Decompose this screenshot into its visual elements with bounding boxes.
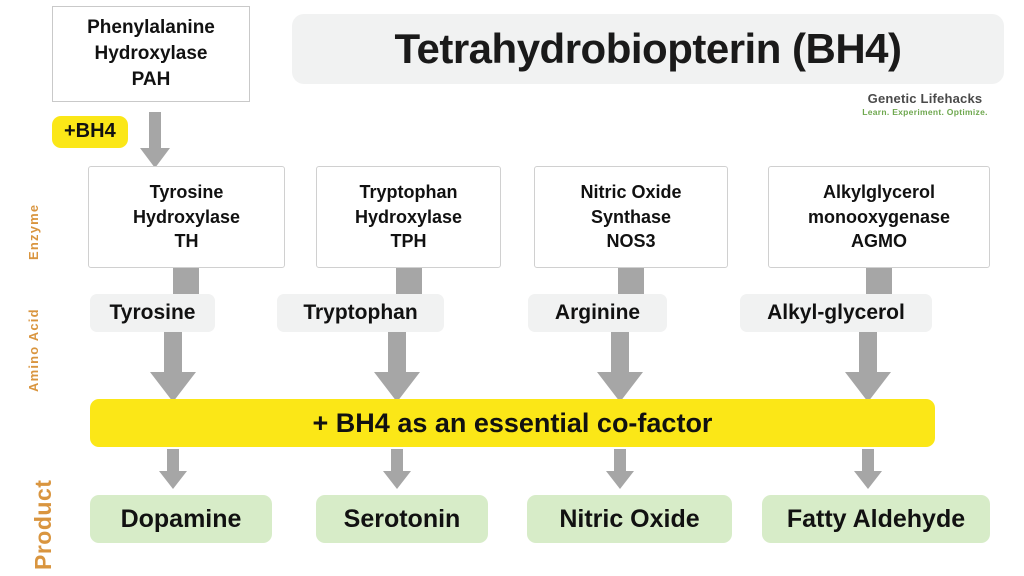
cofactor-label: + BH4 as an essential co-factor [313,408,713,439]
amino-pill-tyrosine-label: Tyrosine [110,301,196,325]
brand-tagline: Learn. Experiment. Optimize. [840,108,1010,118]
enzyme-nos3-line-3: NOS3 [606,229,655,253]
product-pill-serotonin: Serotonin [316,495,488,543]
row-label-product: Product [30,480,57,570]
cofactor-banner: + BH4 as an essential co-factor [90,399,935,447]
bh4-badge: +BH4 [52,116,128,148]
enzyme-tph-line-2: Hydroxylase [355,205,462,229]
connector-nos3-to-arginine [618,268,644,296]
row-label-enzyme: Enzyme [26,204,41,260]
product-pill-dopamine: Dopamine [90,495,272,543]
enzyme-nos3-line-1: Nitric Oxide [580,180,681,204]
product-pill-fatty-aldehyde: Fatty Aldehyde [762,495,990,543]
arrow-tryptophan-to-cofactor [374,332,420,402]
enzyme-agmo-line-3: AGMO [851,229,907,253]
arrow-cofactor-to-fatty-aldehyde [854,449,882,489]
connector-th-to-tyrosine [173,268,199,296]
product-pill-nitric-oxide-label: Nitric Oxide [559,505,699,534]
brand-logo: Genetic Lifehacks Learn. Experiment. Opt… [840,92,1010,118]
enzyme-agmo-line-2: monooxygenase [808,205,950,229]
amino-pill-alkyl-glycerol-label: Alkyl-glycerol [767,301,905,325]
amino-pill-tryptophan-label: Tryptophan [303,301,417,325]
arrow-cofactor-to-serotonin [383,449,411,489]
connector-agmo-to-alkylglycerol [866,268,892,296]
enzyme-nos3-line-2: Synthase [591,205,671,229]
arrow-bh4-to-tyrosine-hydroxylase [140,112,170,168]
product-pill-fatty-aldehyde-label: Fatty Aldehyde [787,505,965,534]
enzyme-box-agmo: Alkylglycerol monooxygenase AGMO [768,166,990,268]
enzyme-th-line-2: Hydroxylase [133,205,240,229]
amino-pill-tyrosine: Tyrosine [90,294,215,332]
amino-pill-arginine: Arginine [528,294,667,332]
arrow-cofactor-to-dopamine [159,449,187,489]
pah-line-1: Phenylalanine [87,15,215,41]
enzyme-box-th: Tyrosine Hydroxylase TH [88,166,285,268]
connector-tph-to-tryptophan [396,268,422,296]
enzyme-tph-line-1: Tryptophan [360,180,458,204]
enzyme-agmo-line-1: Alkylglycerol [823,180,935,204]
pah-line-3: PAH [132,67,171,93]
product-pill-serotonin-label: Serotonin [344,505,461,534]
arrow-tyrosine-to-cofactor [150,332,196,402]
arrow-alkylglycerol-to-cofactor [845,332,891,402]
product-pill-nitric-oxide: Nitric Oxide [527,495,732,543]
enzyme-tph-line-3: TPH [391,229,427,253]
amino-pill-arginine-label: Arginine [555,301,640,325]
product-pill-dopamine-label: Dopamine [121,505,242,534]
enzyme-th-line-1: Tyrosine [150,180,224,204]
arrow-cofactor-to-nitric-oxide [606,449,634,489]
amino-pill-tryptophan: Tryptophan [277,294,444,332]
row-label-amino-acid: Amino Acid [26,308,41,392]
enzyme-box-nos3: Nitric Oxide Synthase NOS3 [534,166,728,268]
amino-pill-alkyl-glycerol: Alkyl-glycerol [740,294,932,332]
pah-line-2: Hydroxylase [94,41,207,67]
enzyme-th-line-3: TH [175,229,199,253]
enzyme-box-pah: Phenylalanine Hydroxylase PAH [52,6,250,102]
enzyme-box-tph: Tryptophan Hydroxylase TPH [316,166,501,268]
arrow-arginine-to-cofactor [597,332,643,402]
page-title-banner: Tetrahydrobiopterin (BH4) [292,14,1004,84]
brand-name: Genetic Lifehacks [840,92,1010,107]
page-title: Tetrahydrobiopterin (BH4) [394,25,901,73]
